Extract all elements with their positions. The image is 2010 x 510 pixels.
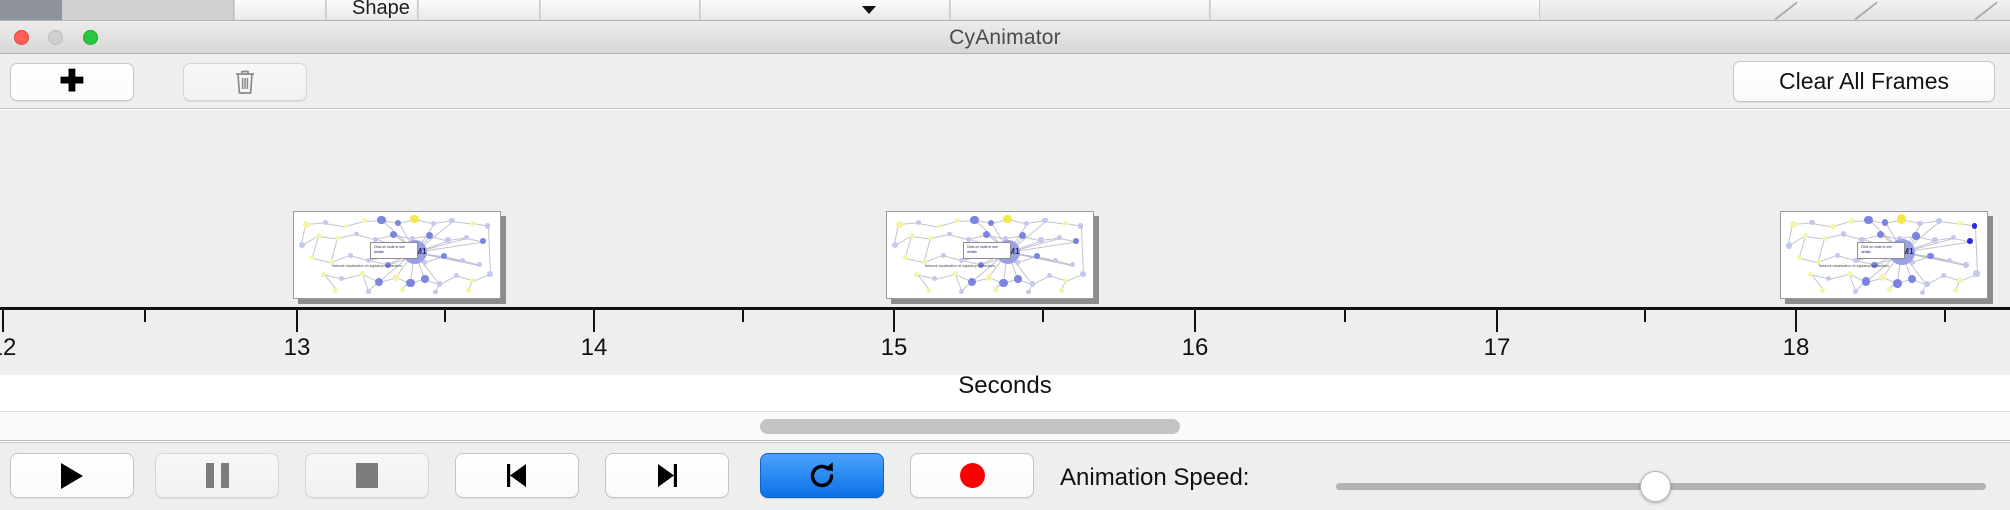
network-node — [1953, 288, 1958, 293]
network-node — [433, 290, 438, 295]
network-node — [445, 237, 451, 243]
network-edge — [487, 226, 490, 274]
network-node — [1924, 281, 1930, 287]
ruler-baseline — [0, 307, 2010, 310]
axis-title: Seconds — [0, 372, 2010, 400]
record-icon — [960, 463, 985, 488]
network-node — [406, 279, 414, 287]
skip-start-button[interactable] — [455, 453, 579, 498]
background-arrow-icon — [1774, 2, 1797, 21]
pause-button[interactable] — [155, 453, 279, 498]
network-node — [1917, 221, 1923, 227]
network-edge — [1080, 226, 1083, 274]
pause-icon — [206, 463, 229, 488]
network-node — [1853, 289, 1858, 294]
stop-icon — [356, 463, 378, 488]
network-node — [1059, 288, 1064, 293]
network-node — [1967, 238, 1973, 244]
network-node — [986, 274, 993, 281]
window-title: CyAnimator — [0, 26, 2010, 50]
toolbar: ✚ Clear All Frames — [0, 54, 2010, 109]
background-arrow-icon — [1974, 2, 1997, 21]
background-toolbar-block — [62, 0, 234, 21]
keyframe-thumbnail[interactable]: MCM1Click on node to see detailsNetwork … — [886, 211, 1099, 304]
network-node — [354, 232, 359, 237]
network-node — [393, 274, 400, 281]
network-node — [454, 273, 459, 278]
network-node — [1864, 216, 1873, 225]
network-node — [437, 281, 443, 287]
network-node — [1963, 262, 1968, 267]
ruler-tick-major — [1194, 310, 1196, 332]
network-node — [470, 278, 475, 283]
network-node — [926, 288, 931, 293]
timeline-ruler[interactable]: 12131415161718 — [0, 307, 2010, 375]
skip-end-button[interactable] — [605, 453, 729, 498]
network-node — [303, 221, 309, 227]
ruler-tick-label: 15 — [881, 334, 908, 362]
network-node — [896, 221, 902, 227]
network-node — [487, 271, 493, 277]
ruler-tick-label: 12 — [0, 334, 16, 362]
background-tab — [950, 0, 1210, 21]
network-node — [1822, 236, 1827, 241]
ruler-tick-label: 13 — [284, 334, 311, 362]
ruler-tick-major — [893, 310, 895, 332]
network-caption: Network visualization of regulatory inte… — [1819, 264, 1889, 268]
network-node — [1972, 223, 1977, 228]
clear-all-frames-button[interactable]: Clear All Frames — [1733, 61, 1995, 102]
background-window-label: Shape — [352, 0, 410, 20]
network-node — [449, 218, 454, 223]
ruler-tick-minor — [1644, 310, 1646, 322]
network-node — [480, 238, 486, 244]
keyframe-network-image[interactable]: MCM1Click on node to see detailsNetwork … — [293, 211, 501, 299]
network-node — [375, 278, 383, 286]
network-node — [1080, 271, 1086, 277]
network-graph: MCM1Click on node to see detailsNetwork … — [887, 212, 1093, 298]
network-node — [362, 218, 367, 223]
network-callout-tooltip: Click on node to see details — [1857, 242, 1905, 259]
network-node — [1803, 233, 1808, 238]
ruler-tick-minor — [444, 310, 446, 322]
network-callout-tooltip: Click on node to see details — [963, 242, 1011, 259]
network-node — [892, 242, 898, 248]
network-node — [1908, 275, 1916, 283]
network-node — [460, 258, 465, 263]
network-node — [317, 233, 322, 238]
loop-button[interactable] — [760, 453, 884, 498]
network-node — [485, 223, 490, 228]
network-node — [1849, 218, 1854, 223]
play-button[interactable] — [10, 453, 134, 498]
scrollbar-thumb[interactable] — [760, 419, 1180, 434]
keyframe-network-image[interactable]: MCM1Click on node to see detailsNetwork … — [1780, 211, 1988, 299]
timeline-panel[interactable]: MCM1Click on node to see detailsNetwork … — [0, 110, 2010, 307]
network-node — [1026, 290, 1031, 295]
keyframe-network-image[interactable]: MCM1Click on node to see detailsNetwork … — [886, 211, 1094, 299]
delete-frame-button[interactable] — [183, 63, 307, 101]
network-node — [344, 224, 349, 229]
ruler-tick-major — [1496, 310, 1498, 332]
background-tab — [234, 0, 326, 21]
ruler-tick-minor — [1944, 310, 1946, 322]
network-edge — [918, 223, 939, 228]
ruler-tick-label: 18 — [1783, 334, 1810, 362]
network-node — [400, 287, 405, 292]
network-node — [1835, 253, 1840, 258]
plus-icon: ✚ — [59, 67, 84, 97]
background-tab — [700, 0, 950, 21]
network-node — [1887, 287, 1892, 292]
network-node — [1941, 273, 1946, 278]
playback-toolbar: Animation Speed: — [0, 442, 2010, 510]
network-node — [1808, 272, 1813, 277]
ruler-tick-minor — [1042, 310, 1044, 322]
network-node — [477, 262, 482, 267]
horizontal-scrollbar[interactable] — [0, 411, 2010, 441]
network-node — [1826, 276, 1831, 281]
network-node — [955, 218, 960, 223]
network-node — [1957, 221, 1962, 226]
network-node — [333, 288, 338, 293]
network-node — [1797, 255, 1802, 260]
network-node — [937, 224, 942, 229]
network-node — [1063, 221, 1068, 226]
network-node — [1034, 253, 1040, 259]
add-frame-button[interactable]: ✚ — [10, 63, 134, 101]
background-window-strip: Shape — [0, 0, 2010, 21]
network-node — [377, 216, 385, 224]
network-node — [1063, 278, 1068, 283]
background-dark-block — [0, 0, 62, 21]
network-callout-tooltip: Click on node to see details — [370, 242, 418, 259]
network-node — [916, 220, 921, 225]
network-edge — [325, 223, 346, 228]
network-caption: Network visualization of regulatory inte… — [332, 264, 402, 268]
network-node — [947, 232, 952, 237]
network-node — [1014, 275, 1022, 283]
network-node — [1053, 258, 1058, 263]
network-node — [970, 216, 978, 224]
animation-speed-label: Animation Speed: — [1060, 464, 1249, 492]
ruler-tick-major — [296, 310, 298, 332]
network-node — [988, 220, 994, 226]
network-node — [910, 233, 915, 238]
background-caret-icon — [862, 6, 876, 14]
network-graph: MCM1Click on node to see detailsNetwork … — [1781, 212, 1987, 298]
ruler-tick-major — [1795, 310, 1797, 332]
window-titlebar: CyAnimator — [0, 21, 2010, 54]
background-tab — [418, 0, 540, 21]
ruler-tick-label: 17 — [1484, 334, 1511, 362]
ruler-tick-label: 14 — [581, 334, 608, 362]
network-node — [431, 221, 437, 227]
network-node — [1070, 262, 1075, 267]
ruler-tick-major — [2, 310, 4, 332]
network-node — [968, 278, 976, 286]
network-node — [1893, 279, 1902, 288]
keyframe-thumbnail[interactable]: MCM1Click on node to see detailsNetwork … — [1780, 211, 1993, 304]
network-node — [395, 220, 401, 226]
network-node — [1973, 270, 1979, 276]
network-node — [1820, 288, 1825, 293]
trash-icon — [233, 68, 257, 96]
network-caption: Network visualization of regulatory inte… — [925, 264, 995, 268]
background-tab — [540, 0, 700, 21]
network-node — [1920, 290, 1925, 295]
ruler-tick-major — [593, 310, 595, 332]
keyframe-thumbnail[interactable]: MCM1Click on node to see detailsNetwork … — [293, 211, 506, 304]
network-node — [914, 272, 919, 277]
network-node — [1862, 277, 1870, 285]
network-node — [1042, 218, 1047, 223]
network-node — [1030, 281, 1036, 287]
network-node — [366, 289, 371, 294]
network-node — [941, 253, 946, 258]
loop-icon — [807, 461, 837, 491]
network-node — [1841, 231, 1846, 236]
network-node — [928, 236, 933, 241]
network-node — [348, 253, 353, 258]
record-button[interactable] — [910, 453, 1034, 498]
network-node — [1073, 238, 1079, 244]
network-node — [1003, 215, 1012, 224]
stop-button[interactable] — [305, 453, 429, 498]
network-node — [1936, 218, 1941, 223]
network-node — [441, 253, 447, 259]
network-node — [421, 275, 429, 283]
network-node — [1897, 214, 1906, 223]
network-node — [1830, 224, 1835, 229]
network-node — [1957, 278, 1962, 283]
network-node — [932, 276, 937, 281]
network-node — [1912, 232, 1920, 240]
network-node — [470, 221, 475, 226]
ruler-tick-minor — [742, 310, 744, 322]
skip-start-icon — [504, 463, 530, 488]
network-node — [1882, 219, 1888, 225]
network-node — [1879, 274, 1886, 281]
network-node — [323, 220, 328, 225]
play-icon — [61, 463, 83, 489]
network-node — [1786, 242, 1792, 248]
ruler-tick-minor — [144, 310, 146, 322]
background-arrow-icon — [1854, 2, 1877, 21]
network-node — [410, 215, 419, 224]
network-node — [299, 242, 305, 248]
network-node — [959, 289, 964, 294]
ruler-tick-label: 16 — [1182, 334, 1209, 362]
skip-end-icon — [654, 463, 680, 488]
network-node — [1932, 237, 1938, 243]
network-node — [1047, 273, 1052, 278]
network-node — [1790, 221, 1797, 228]
animation-speed-slider-thumb[interactable] — [1640, 471, 1671, 502]
network-node — [1024, 221, 1030, 227]
network-node — [993, 287, 998, 292]
ruler-tick-minor — [1344, 310, 1346, 322]
network-node — [1038, 237, 1044, 243]
network-node — [999, 279, 1007, 287]
network-node — [335, 236, 340, 241]
network-node — [321, 272, 326, 277]
network-node — [1078, 223, 1083, 228]
network-graph: MCM1Click on node to see detailsNetwork … — [294, 212, 500, 298]
background-tab — [1210, 0, 1540, 21]
network-edge — [1974, 226, 1977, 274]
network-node — [466, 288, 471, 293]
network-node — [339, 276, 344, 281]
